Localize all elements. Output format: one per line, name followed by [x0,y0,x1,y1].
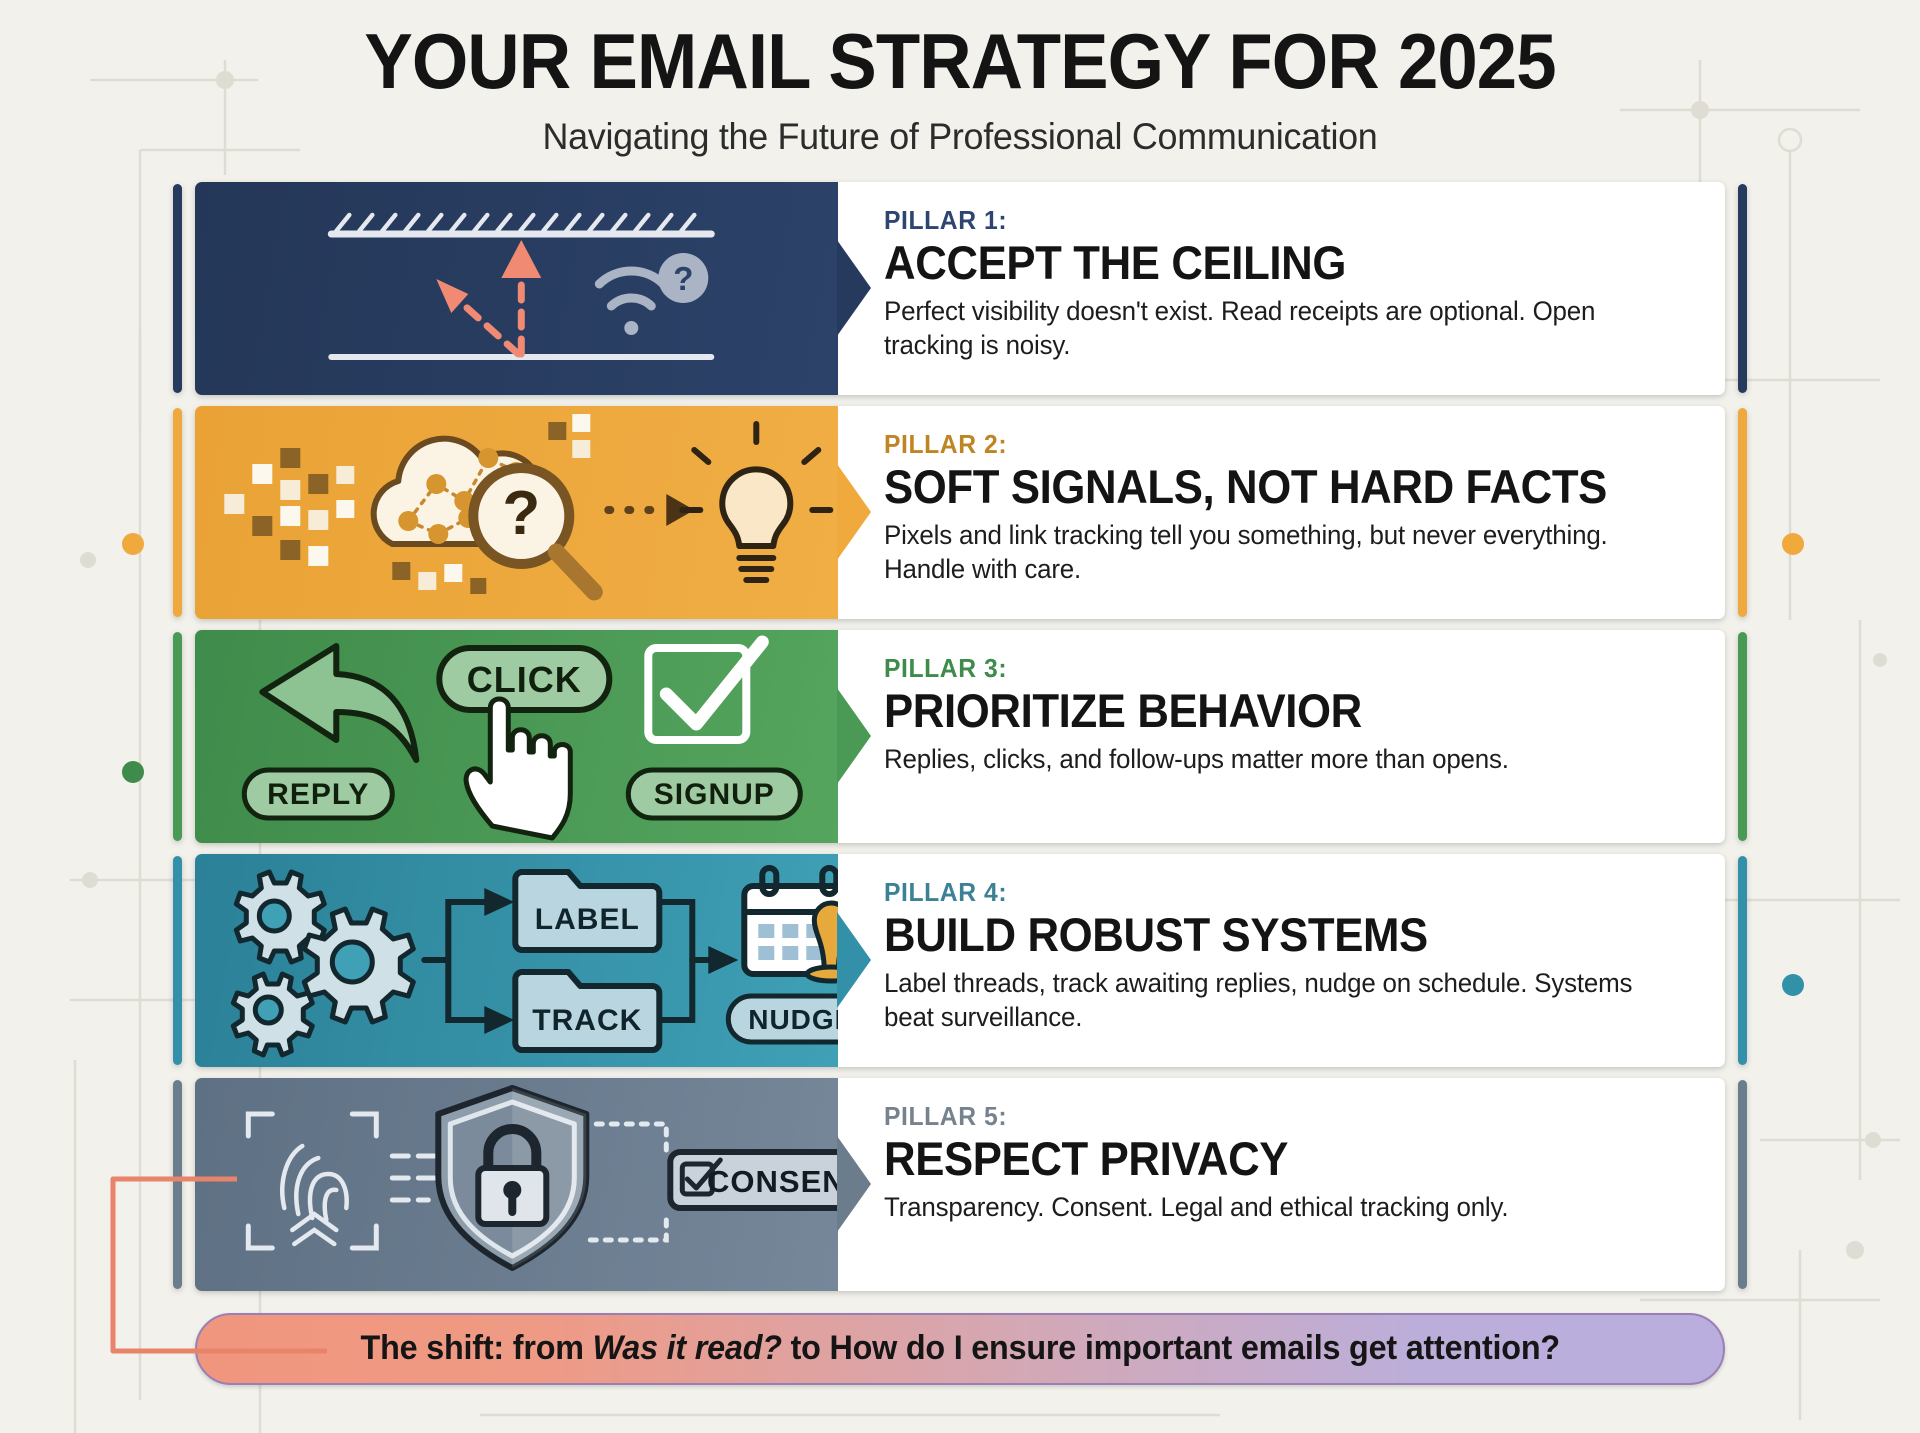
pillar-rail-left-2 [173,408,182,617]
reply-label-pill: REPLY [244,770,392,818]
pillar-rail-left-4 [173,856,182,1065]
pillar-headline-4: BUILD ROBUST SYSTEMS [884,910,1639,961]
svg-text:CLICK: CLICK [467,659,582,700]
pillar-headline-3: PRIORITIZE BEHAVIOR [884,686,1639,737]
pillar-body-5: PILLAR 5: RESPECT PRIVACY Transparency. … [838,1078,1725,1291]
pillar-description-5: Transparency. Consent. Legal and ethical… [884,1190,1663,1224]
pillar-description-2: Pixels and link tracking tell you someth… [884,518,1663,586]
branch-arrow-icon [424,888,514,1034]
question-mark-badge-icon: ? [658,253,708,303]
pillar-list: ? PILLAR 1: ACCEPT THE CEILING Perfect v… [195,182,1725,1291]
footer-prefix: The shift: from [360,1329,592,1367]
svg-text:?: ? [673,260,693,297]
pillar-rail-right-2 [1738,408,1747,617]
pillar-headline-2: SOFT SIGNALS, NOT HARD FACTS [884,462,1639,513]
page-subtitle: Navigating the Future of Professional Co… [29,116,1891,158]
page-title: YOUR EMAIL STRATEGY FOR 2025 [67,22,1853,102]
svg-text:LABEL: LABEL [535,903,640,936]
svg-text:CONSENT: CONSENT [707,1164,838,1199]
pillar-rail-right-1 [1738,184,1747,393]
pillar-card-2[interactable]: ? [195,406,1725,619]
svg-text:REPLY: REPLY [267,778,369,811]
pillar-headline-1: ACCEPT THE CEILING [884,238,1639,289]
magnifier-question-icon: ? [473,468,594,592]
wifi-signal-icon [599,271,663,335]
pillar-rail-right-4 [1738,856,1747,1065]
pillar-rail-left-3 [173,632,182,841]
pillar-card-5[interactable]: CONSENT PILLAR 5: RESPECT PRIVACY Transp… [195,1078,1725,1291]
pillar-kicker-4: PILLAR 4: [884,877,1655,908]
pillar-description-3: Replies, clicks, and follow-ups matter m… [884,742,1663,776]
footer-text: The shift: from Was it read? to How do I… [360,1329,1559,1368]
fingerprint-icon [282,1146,346,1244]
pillar-art-5: CONSENT [195,1078,838,1291]
pillar-kicker-1: PILLAR 1: [884,205,1655,236]
dashed-arrow-diagonal-icon [436,279,518,354]
checkbox-check-icon [648,642,762,740]
lightbulb-icon [682,424,830,580]
hatched-ceiling-icon [331,215,711,234]
dashed-arrow-up-icon [501,240,541,354]
shield-lock-icon [438,1088,586,1268]
footer-suffix: to How do I ensure important emails get … [782,1329,1560,1367]
pillar-body-3: PILLAR 3: PRIORITIZE BEHAVIOR Replies, c… [838,630,1725,843]
gears-icon [233,872,413,1055]
pillar-art-1: ? [195,182,838,395]
svg-text:TRACK: TRACK [532,1004,642,1037]
signup-label-pill: SIGNUP [628,770,800,818]
footer-region: The shift: from Was it read? to How do I… [195,1313,1725,1385]
pillar-rail-left-1 [173,184,182,393]
merge-arrow-icon [660,902,738,1020]
nudge-label-pill: NUDGE [728,996,837,1042]
footer-banner[interactable]: The shift: from Was it read? to How do I… [195,1313,1725,1385]
pillar-card-3[interactable]: REPLY CLICK SIGNUP [195,630,1725,843]
svg-text:SIGNUP: SIGNUP [654,778,775,811]
folder-icon-label: LABEL [515,872,659,950]
click-button-icon: CLICK [439,648,609,710]
pillar-rail-right-3 [1738,632,1747,841]
pillar-art-2: ? [195,406,838,619]
footer-emphasis: Was it read? [592,1329,781,1367]
pillar-card-4[interactable]: LABEL TRACK [195,854,1725,1067]
infographic-header: YOUR EMAIL STRATEGY FOR 2025 Navigating … [0,0,1920,158]
pillar-kicker-5: PILLAR 5: [884,1101,1655,1132]
pillar-description-4: Label threads, track awaiting replies, n… [884,966,1663,1034]
pillar-body-2: PILLAR 2: SOFT SIGNALS, NOT HARD FACTS P… [838,406,1725,619]
pillar-rail-right-5 [1738,1080,1747,1289]
pillar-description-1: Perfect visibility doesn't exist. Read r… [884,294,1663,362]
consent-checkbox-icon: CONSENT [670,1152,837,1208]
pointer-hand-icon [466,699,570,838]
pillar-body-1: PILLAR 1: ACCEPT THE CEILING Perfect vis… [838,182,1725,395]
reply-arrow-icon [262,646,416,760]
fingerprint-scan-icon [248,1114,376,1248]
pillar-kicker-2: PILLAR 2: [884,429,1655,460]
pillar-art-4: LABEL TRACK [195,854,838,1067]
pillar-card-1[interactable]: ? PILLAR 1: ACCEPT THE CEILING Perfect v… [195,182,1725,395]
folder-icon-track: TRACK [515,972,659,1050]
pillar-headline-5: RESPECT PRIVACY [884,1134,1639,1185]
svg-text:NUDGE: NUDGE [748,1004,837,1035]
svg-text:?: ? [502,479,540,548]
pillar-body-4: PILLAR 4: BUILD ROBUST SYSTEMS Label thr… [838,854,1725,1067]
pillar-kicker-3: PILLAR 3: [884,653,1655,684]
pillar-rail-left-5 [173,1080,182,1289]
pillar-art-3: REPLY CLICK SIGNUP [195,630,838,843]
